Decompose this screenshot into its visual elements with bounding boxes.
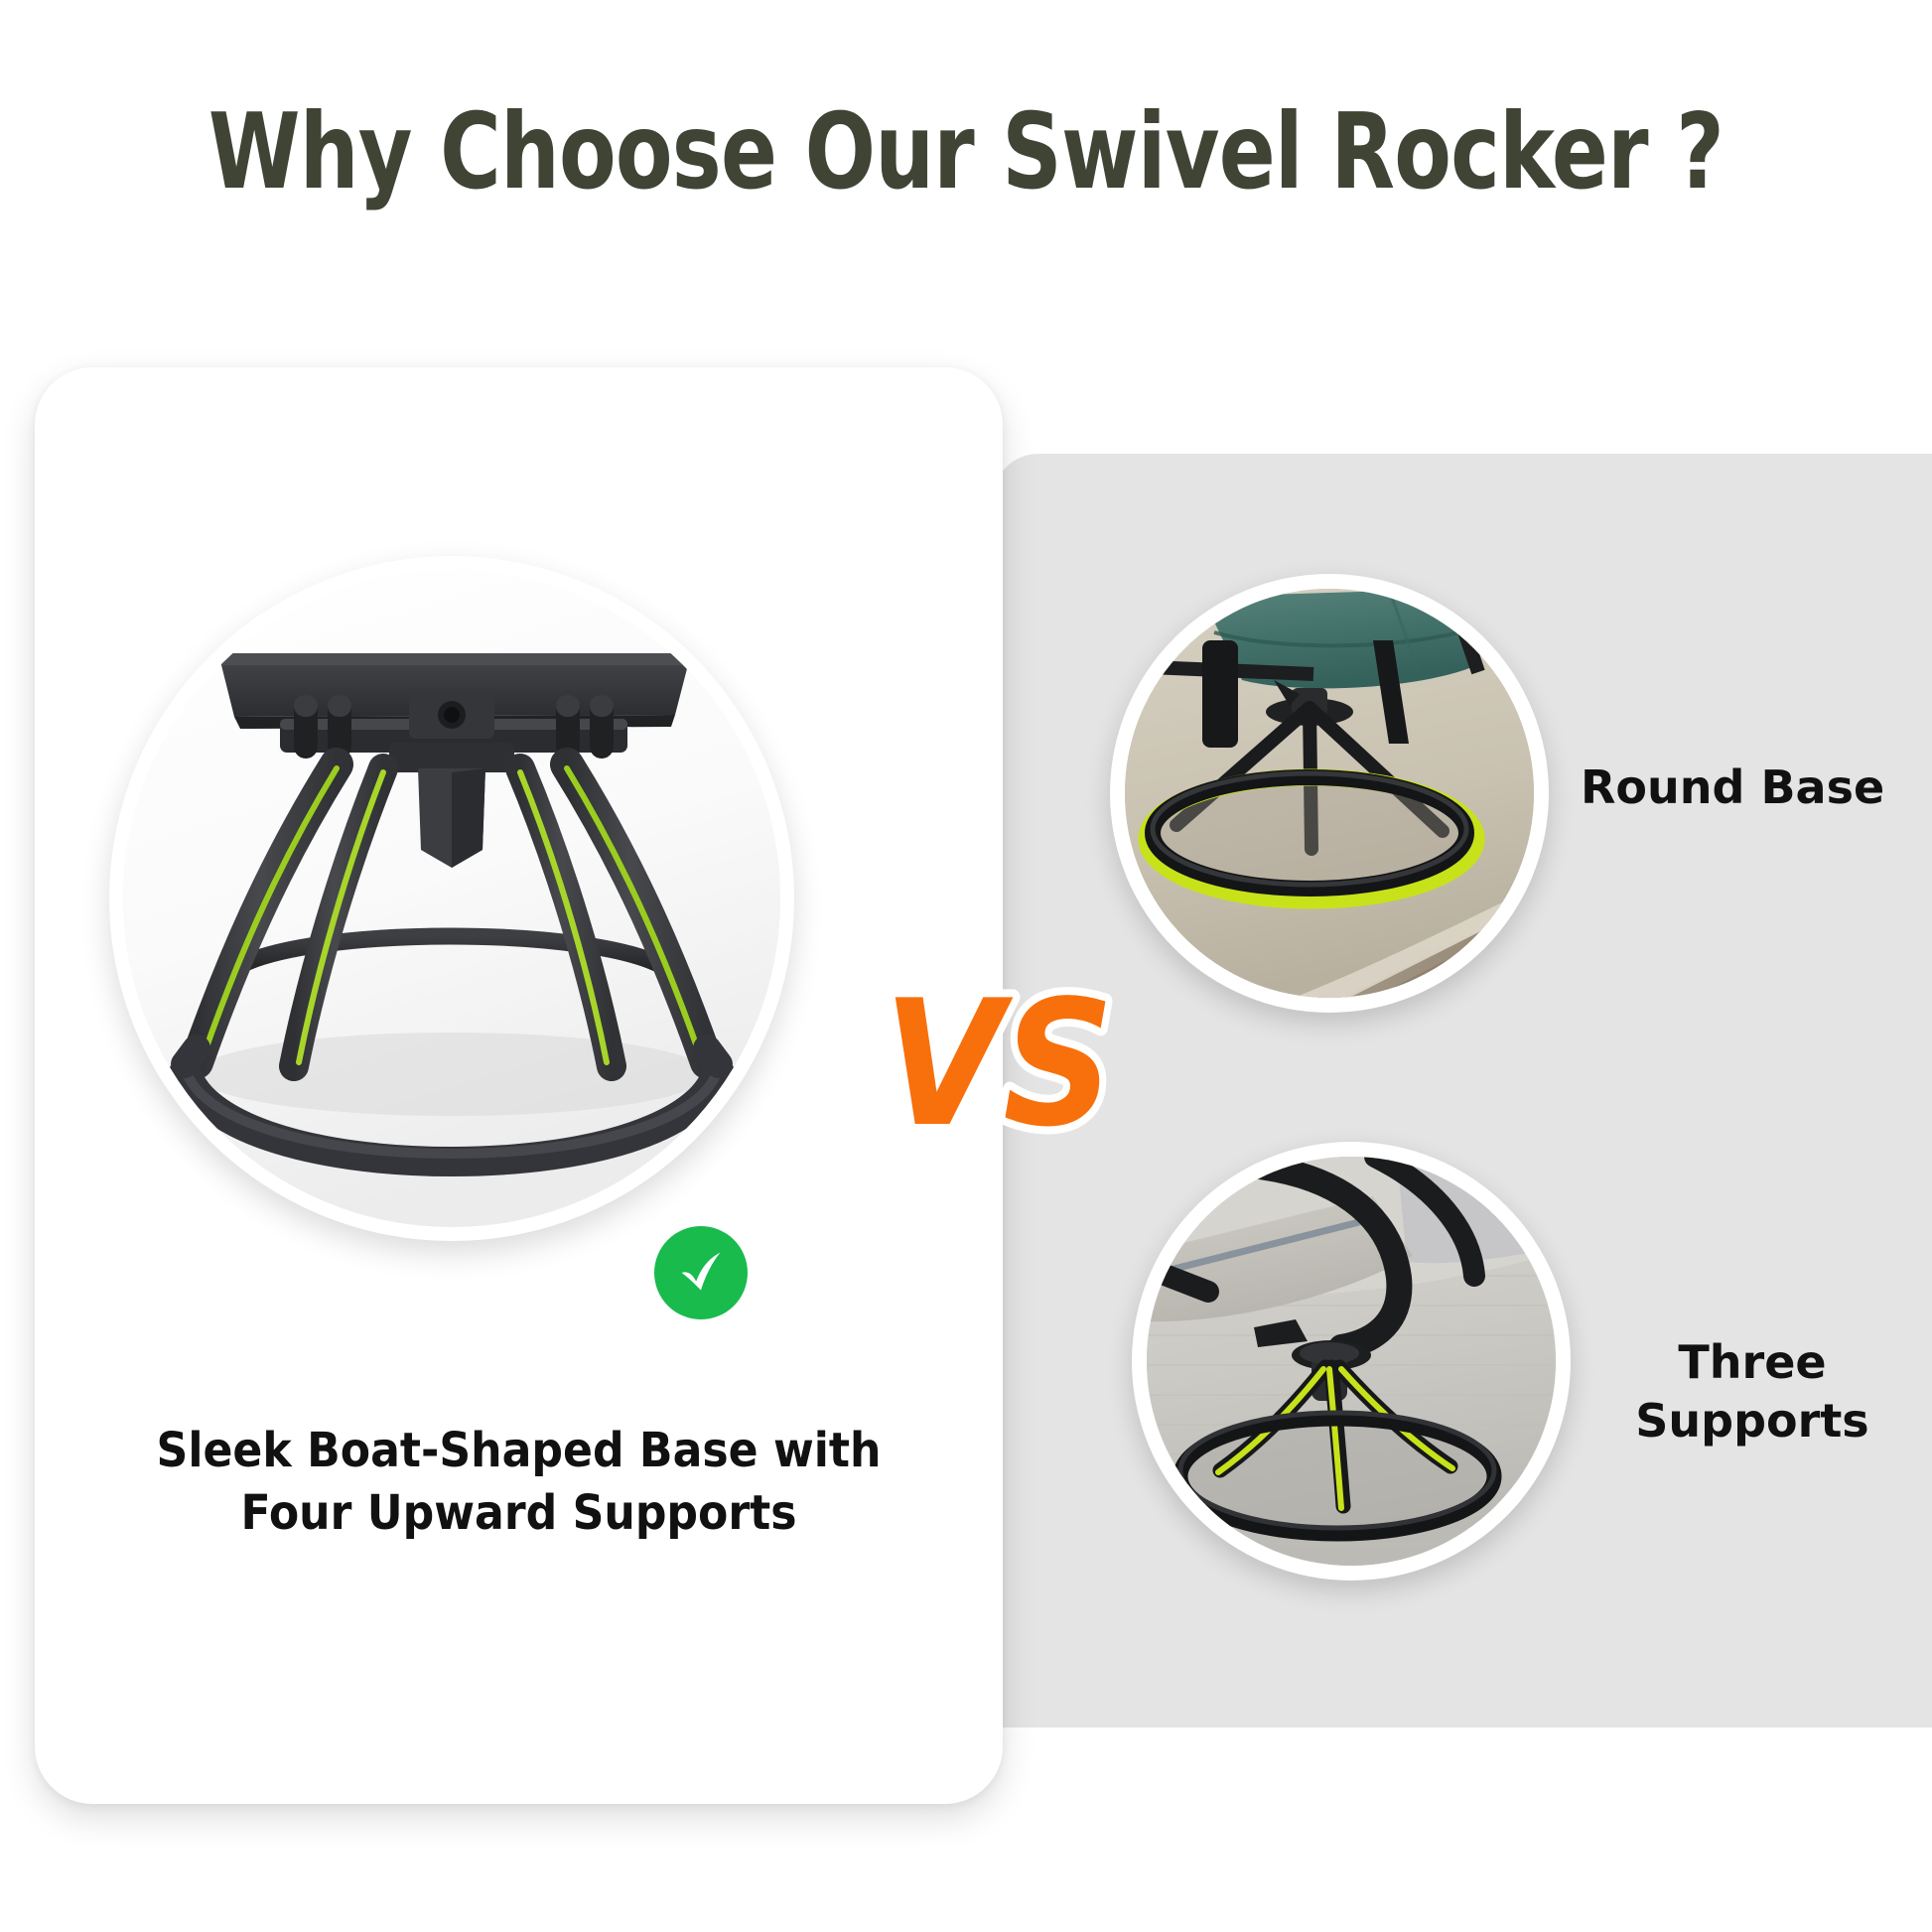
bad-label-three-supports-line2: Supports — [1588, 1392, 1916, 1450]
bad-label-round-base: Round Base — [1581, 759, 1918, 817]
boat-shaped-base-illustration — [123, 570, 780, 1227]
bad-label-three-supports-line1: Three — [1588, 1333, 1916, 1392]
bad-label-three-supports: Three Supports — [1588, 1333, 1916, 1450]
three-supports-illustration — [1147, 1157, 1556, 1566]
bad-photo-round-base — [1110, 574, 1549, 1013]
good-product-photo-inner — [123, 570, 780, 1227]
infographic-canvas: Why Choose Our Swivel Rocker ? — [0, 0, 1932, 1932]
vs-text: VS — [884, 964, 1114, 1166]
bad-photo-round-base-inner — [1125, 589, 1534, 998]
check-mark-glyph — [670, 1242, 732, 1304]
page-title: Why Choose Our Swivel Rocker ? — [194, 95, 1739, 210]
caption-line-1: Sleek Boat-Shaped Base with — [96, 1420, 941, 1482]
good-product-photo — [109, 556, 794, 1241]
caption-line-2: Four Upward Supports — [96, 1482, 941, 1545]
bad-photo-three-supports-inner — [1147, 1157, 1556, 1566]
vs-badge: VS — [880, 957, 1118, 1171]
bad-photo-three-supports — [1132, 1142, 1571, 1581]
round-base-illustration — [1125, 589, 1534, 998]
check-circle-icon — [654, 1226, 748, 1319]
vs-badge-glyph: VS — [880, 957, 1118, 1171]
good-product-caption: Sleek Boat-Shaped Base with Four Upward … — [96, 1420, 941, 1546]
